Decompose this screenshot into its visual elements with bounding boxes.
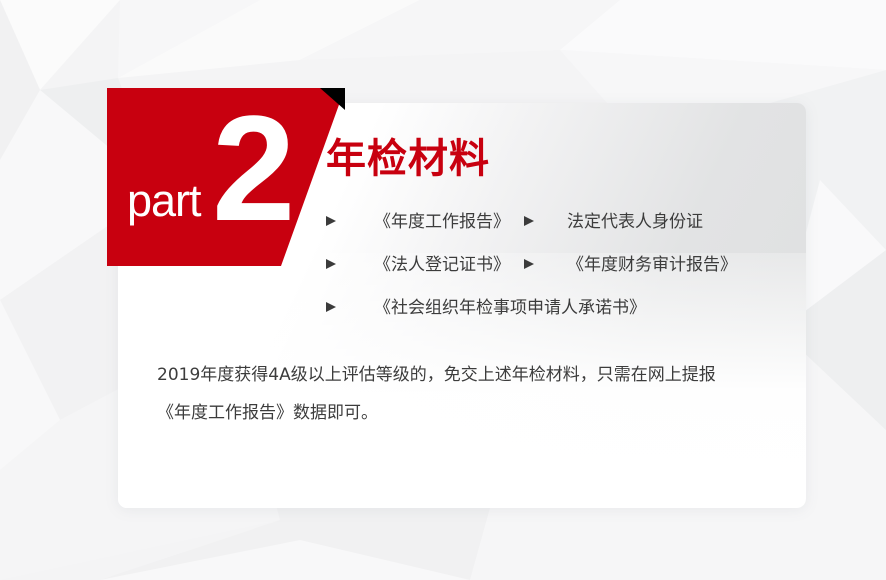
arrow-bullet-icon — [326, 215, 339, 227]
arrow-bullet-icon — [326, 301, 339, 313]
list-item-label: 《年度财务审计报告》 — [567, 255, 737, 275]
list-item-label: 《年度工作报告》 — [374, 212, 510, 232]
arrow-bullet-icon — [524, 215, 537, 227]
list-row: 《法人登记证书》 《年度财务审计报告》 — [326, 243, 786, 286]
part-label: part — [127, 178, 201, 223]
list-item-label: 法定代表人身份证 — [567, 212, 703, 232]
list-item: 《年度财务审计报告》 — [524, 243, 737, 286]
list-item: 《年度工作报告》 — [326, 200, 510, 243]
arrow-bullet-icon — [326, 258, 339, 270]
materials-list: 《年度工作报告》 法定代表人身份证 《法人登记证书》 《年度财务审计报告 — [326, 200, 786, 329]
list-row: 《社会组织年检事项申请人承诺书》 — [326, 286, 786, 329]
list-item: 《法人登记证书》 — [326, 243, 510, 286]
body-paragraph: 2019年度获得4A级以上评估等级的，免交上述年检材料，只需在网上提报 《年度工… — [157, 356, 747, 432]
body-line-2: 《年度工作报告》数据即可。 — [157, 394, 747, 432]
list-item: 《社会组织年检事项申请人承诺书》 — [326, 286, 646, 329]
list-item-label: 《社会组织年检事项申请人承诺书》 — [374, 298, 646, 318]
slide-canvas: 2 part 年检材料 《年度工作报告》 法定代表人身份证 — [0, 0, 886, 580]
part-banner: 2 part — [107, 88, 345, 266]
list-item: 法定代表人身份证 — [524, 200, 703, 243]
list-item-label: 《法人登记证书》 — [374, 255, 510, 275]
part-number: 2 — [212, 93, 291, 243]
arrow-bullet-icon — [524, 258, 537, 270]
list-row: 《年度工作报告》 法定代表人身份证 — [326, 200, 786, 243]
page-title: 年检材料 — [326, 136, 490, 182]
body-line-1: 2019年度获得4A级以上评估等级的，免交上述年检材料，只需在网上提报 — [157, 356, 747, 394]
